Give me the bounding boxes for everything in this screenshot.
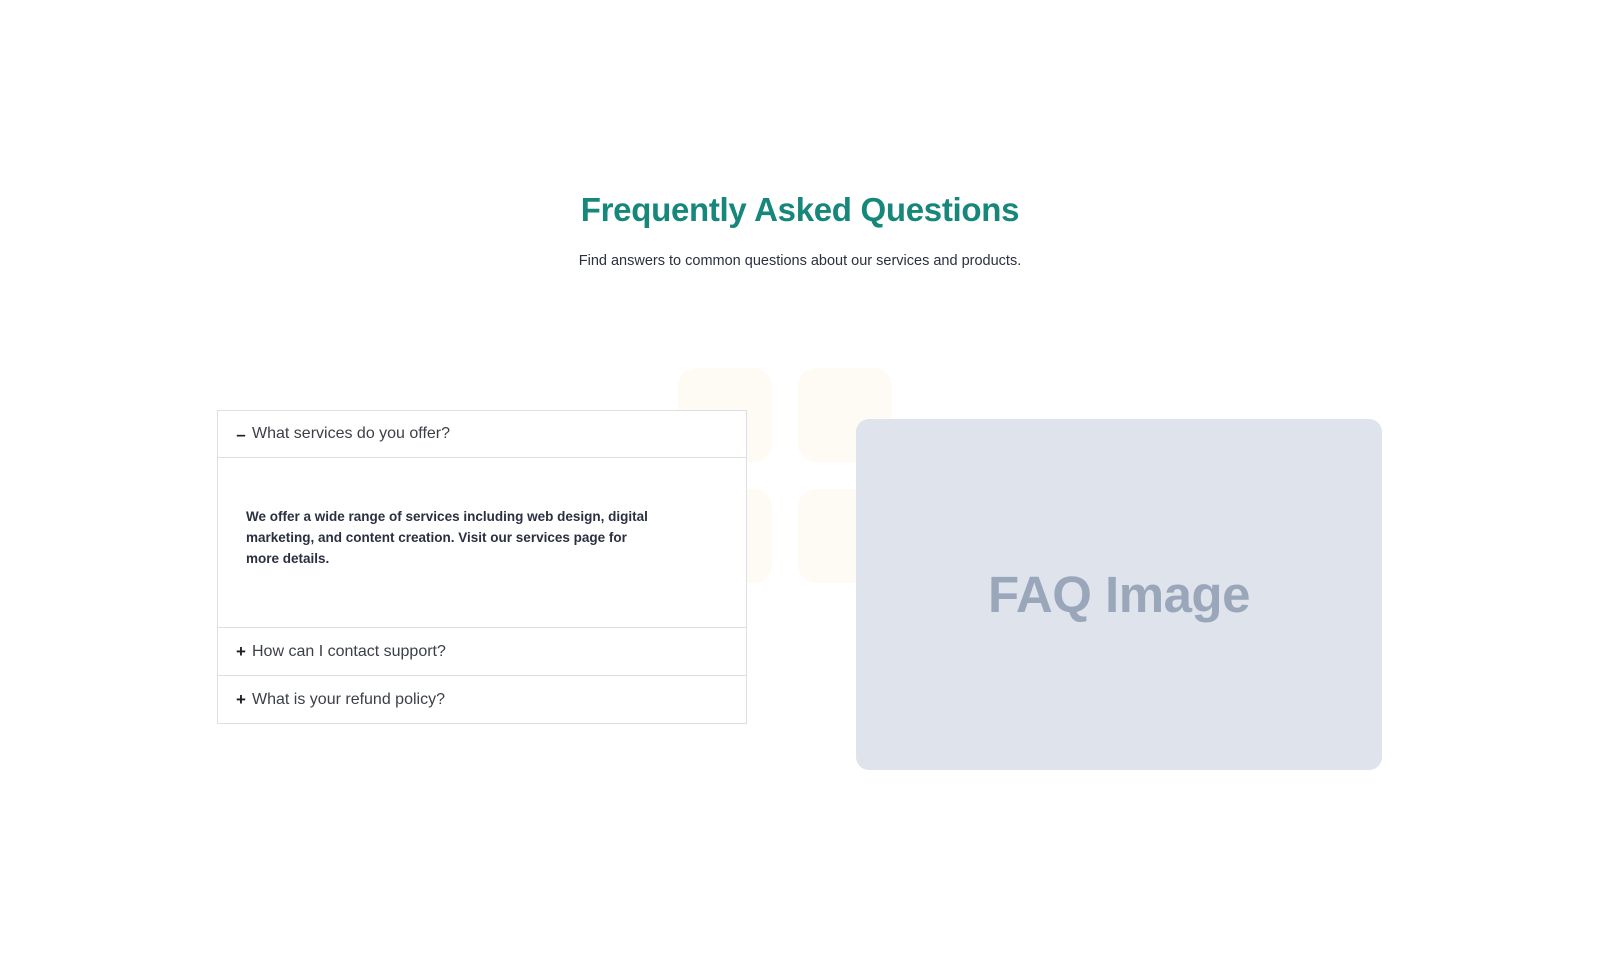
faq-header: Frequently Asked Questions Find answers … <box>0 190 1600 271</box>
faq-content: – What services do you offer? We offer a… <box>0 0 1600 978</box>
accordion-header-what-services-do-you-offer[interactable]: – What services do you offer? <box>218 411 746 458</box>
minus-icon: – <box>230 426 252 443</box>
faq-accordion: – What services do you offer? We offer a… <box>217 410 747 724</box>
faq-image-placeholder: FAQ Image <box>856 419 1382 770</box>
accordion-item-what-services-do-you-offer: – What services do you offer? We offer a… <box>218 411 746 628</box>
accordion-answer-text: We offer a wide range of services includ… <box>246 506 661 569</box>
accordion-question-label: What is your refund policy? <box>252 690 445 710</box>
accordion-item-what-is-your-refund-policy: + What is your refund policy? <box>218 676 746 724</box>
faq-page: Frequently Asked Questions Find answers … <box>0 0 1600 978</box>
page-subtitle: Find answers to common questions about o… <box>0 251 1600 271</box>
plus-icon: + <box>230 691 252 708</box>
accordion-panel-what-services-do-you-offer: We offer a wide range of services includ… <box>218 458 746 627</box>
plus-icon: + <box>230 643 252 660</box>
accordion-header-how-can-i-contact-support[interactable]: + How can I contact support? <box>218 628 746 675</box>
accordion-question-label: How can I contact support? <box>252 642 446 662</box>
accordion-question-label: What services do you offer? <box>252 424 450 444</box>
accordion-header-what-is-your-refund-policy[interactable]: + What is your refund policy? <box>218 676 746 723</box>
faq-image-placeholder-label: FAQ Image <box>988 566 1250 624</box>
page-title: Frequently Asked Questions <box>0 190 1600 230</box>
accordion-item-how-can-i-contact-support: + How can I contact support? <box>218 628 746 676</box>
